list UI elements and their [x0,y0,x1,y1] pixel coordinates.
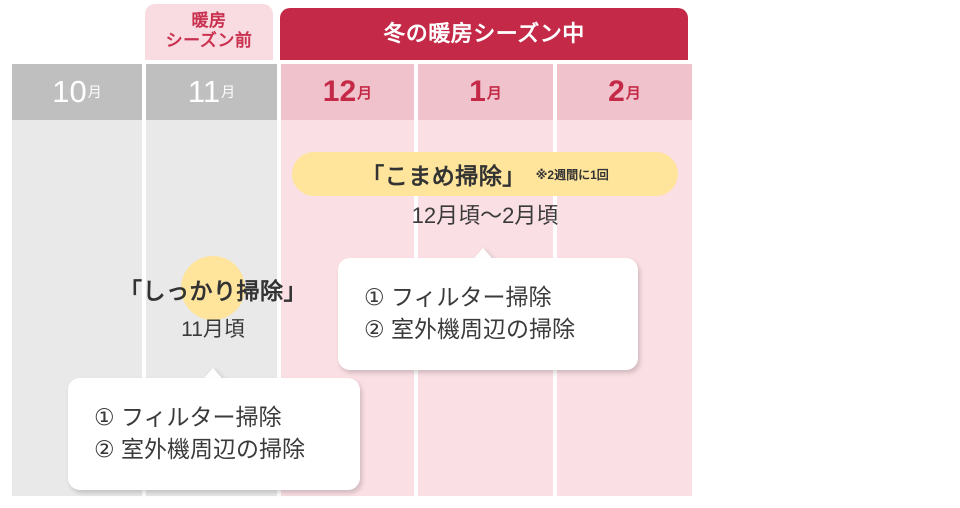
month-suffix-12: 月 [357,82,372,103]
season-tab-pre-heating-line1: 暖房 [166,11,253,31]
callout-komame-box: ① フィルター掃除 ② 室外機周辺の掃除 [338,258,638,370]
callout-shikkari-line2: ② 室外機周辺の掃除 [94,434,360,466]
month-suffix-1: 月 [487,82,502,103]
komame-cleaning-period: 12月頃～2月頃 [292,198,678,230]
komame-cleaning-note: ※2週間に1回 [536,166,609,183]
month-header-2: 2月 [557,64,692,120]
season-tab-during-heating-label: 冬の暖房シーズン中 [383,21,584,47]
month-header-10: 10月 [12,64,142,120]
season-tab-pre-heating-line2: シーズン前 [166,31,253,51]
month-header-11: 11月 [146,64,277,120]
month-suffix-10: 月 [88,82,102,102]
callout-komame-line2: ② 室外機周辺の掃除 [364,314,638,346]
callout-shikkari-tasks: ① フィルター掃除 ② 室外機周辺の掃除 [68,368,360,490]
month-suffix-11: 月 [221,82,235,102]
month-number-11: 11 [188,74,220,110]
season-tab-during-heating: 冬の暖房シーズン中 [280,8,688,60]
infographic-canvas: 暖房 シーズン前 冬の暖房シーズン中 10月 11月 12月 [0,0,960,508]
month-header-1: 1月 [418,64,553,120]
callout-shikkari-line1: ① フィルター掃除 [94,402,360,434]
month-number-10: 10 [52,74,86,110]
month-number-1: 1 [469,75,486,109]
month-suffix-2: 月 [626,82,641,103]
komame-cleaning-title: 「こまめ掃除」 [361,157,526,191]
month-number-2: 2 [608,75,625,109]
callout-komame-tasks: ① フィルター掃除 ② 室外機周辺の掃除 [338,248,638,370]
callout-komame-line1: ① フィルター掃除 [364,282,638,314]
month-number-12: 12 [323,75,356,109]
month-header-12: 12月 [281,64,414,120]
callout-shikkari-box: ① フィルター掃除 ② 室外機周辺の掃除 [68,378,360,490]
komame-cleaning-badge: 「こまめ掃除」 ※2週間に1回 [292,152,678,196]
season-tab-pre-heating: 暖房 シーズン前 [145,4,273,60]
